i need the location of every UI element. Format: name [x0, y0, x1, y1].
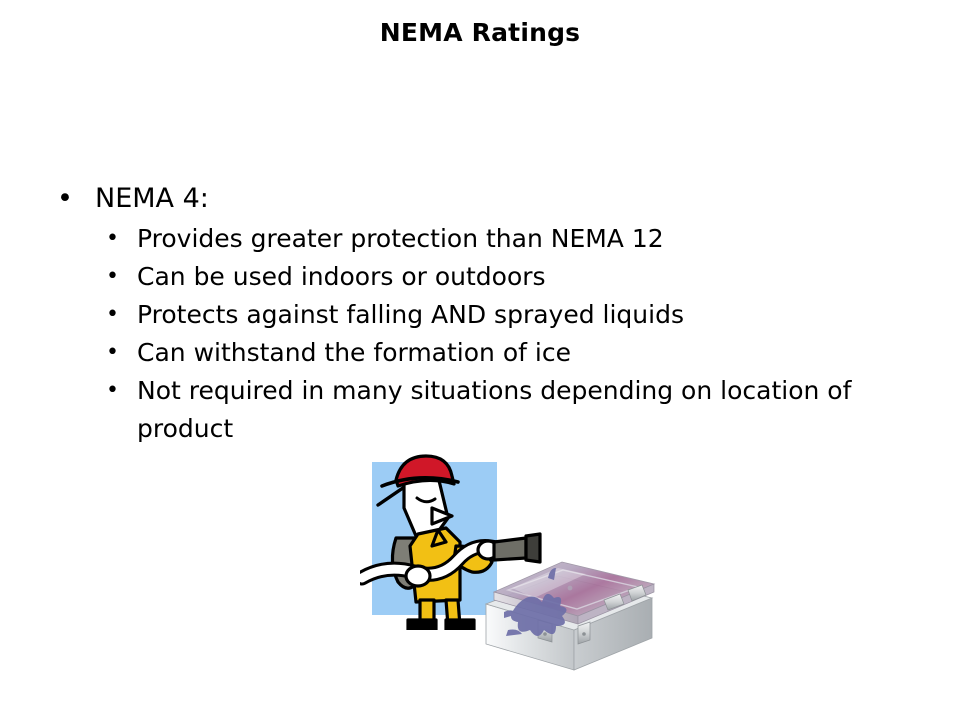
bullet-level1: • NEMA 4:: [52, 180, 932, 218]
bullet-marker-icon: •: [106, 334, 119, 372]
page-title: NEMA Ratings: [0, 17, 960, 49]
bullet-marker-icon: •: [106, 296, 119, 334]
bullet-marker-icon: •: [106, 220, 119, 258]
list-item: • Protects against falling AND sprayed l…: [52, 296, 932, 334]
list-item-label: Provides greater protection than NEMA 12: [137, 220, 932, 258]
list-item-label: Can be used indoors or outdoors: [137, 258, 932, 296]
nema-enclosure-box: [478, 538, 660, 678]
list-item-label: Not required in many situations dependin…: [137, 372, 932, 448]
bullet-list: • NEMA 4: • Provides greater protection …: [52, 180, 932, 448]
clipart-illustration: [360, 450, 660, 675]
list-item: • Not required in many situations depend…: [52, 372, 932, 448]
list-item: • Provides greater protection than NEMA …: [52, 220, 932, 258]
bullet-level1-label: NEMA 4:: [95, 183, 209, 214]
bullet-marker-icon: •: [57, 180, 73, 218]
list-item-label: Can withstand the formation of ice: [137, 334, 932, 372]
list-item-label: Protects against falling AND sprayed liq…: [137, 296, 932, 334]
bullet-marker-icon: •: [106, 258, 119, 296]
list-item: • Can be used indoors or outdoors: [52, 258, 932, 296]
list-item: • Can withstand the formation of ice: [52, 334, 932, 372]
bullet-marker-icon: •: [106, 372, 119, 410]
sub-bullet-list: • Provides greater protection than NEMA …: [52, 220, 932, 448]
slide-canvas: NEMA Ratings • NEMA 4: • Provides greate…: [0, 0, 960, 720]
